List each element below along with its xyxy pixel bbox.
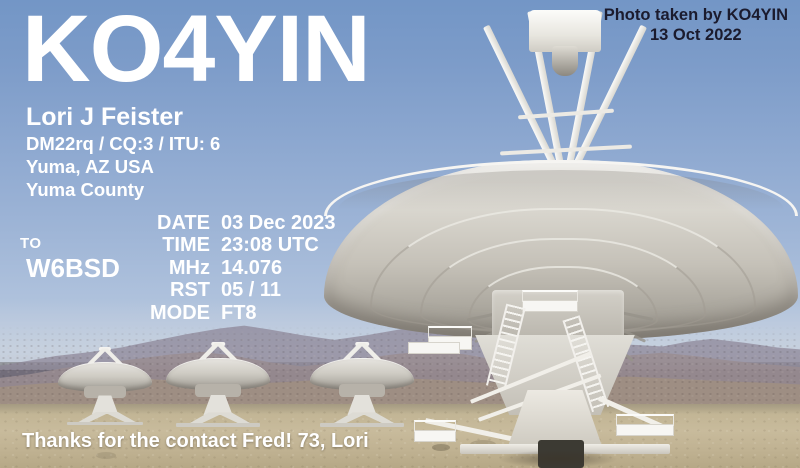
dish-pedestal (92, 395, 118, 414)
background-dish (58, 362, 152, 424)
qso-details-table: DATE 03 Dec 2023 TIME 23:08 UTC MHz 14.0… (150, 212, 336, 324)
photo-credit: Photo taken by KO4YIN 13 Oct 2022 (604, 5, 788, 45)
qsl-card: KO4YIN Lori J Feister DM22rq / CQ:3 / IT… (0, 0, 800, 468)
qso-row-mode: MODE FT8 (150, 302, 336, 324)
qso-value-date: 03 Dec 2023 (221, 212, 336, 234)
qso-label-rst: RST (150, 279, 221, 301)
photo-credit-line1: Photo taken by KO4YIN (604, 5, 788, 25)
qso-value-mode: FT8 (221, 302, 336, 324)
city-state-country: Yuma, AZ USA (26, 156, 154, 178)
main-radio-telescope (310, 0, 800, 468)
qso-value-rst: 05 / 11 (221, 279, 336, 301)
to-label: TO (20, 235, 42, 252)
qso-label-mhz: MHz (150, 257, 221, 279)
photo-credit-line2: 13 Oct 2022 (604, 25, 788, 45)
grid-square-zones: DM22rq / CQ:3 / ITU: 6 (26, 133, 220, 155)
operator-name: Lori J Feister (26, 103, 183, 132)
qso-row-time: TIME 23:08 UTC (150, 234, 336, 256)
qso-label-time: TIME (150, 234, 221, 256)
scrub-bush (96, 452, 116, 459)
walkway-railing (522, 290, 578, 302)
background-dish (166, 358, 270, 426)
dish-pedestal (203, 395, 232, 415)
qso-value-time: 23:08 UTC (221, 234, 336, 256)
service-platform (408, 342, 460, 354)
dish-base (67, 422, 142, 426)
qso-row-rst: RST 05 / 11 (150, 279, 336, 301)
qso-label-mode: MODE (150, 302, 221, 324)
lower-platform-railing (414, 420, 456, 432)
recipient-callsign: W6BSD (26, 253, 120, 284)
qso-label-date: DATE (150, 212, 221, 234)
ground-shadow (498, 450, 618, 468)
feed-horn (552, 46, 578, 76)
qso-row-mhz: MHz 14.076 (150, 257, 336, 279)
lower-platform-railing (616, 414, 674, 426)
qso-row-date: DATE 03 Dec 2023 (150, 212, 336, 234)
dish-base (176, 423, 259, 427)
qso-value-mhz: 14.076 (221, 257, 336, 279)
station-callsign: KO4YIN (22, 2, 370, 97)
county: Yuma County (26, 179, 144, 201)
thanks-message: Thanks for the contact Fred! 73, Lori (22, 430, 369, 453)
quadpod-brace (500, 145, 632, 156)
platform-railing (428, 326, 472, 338)
